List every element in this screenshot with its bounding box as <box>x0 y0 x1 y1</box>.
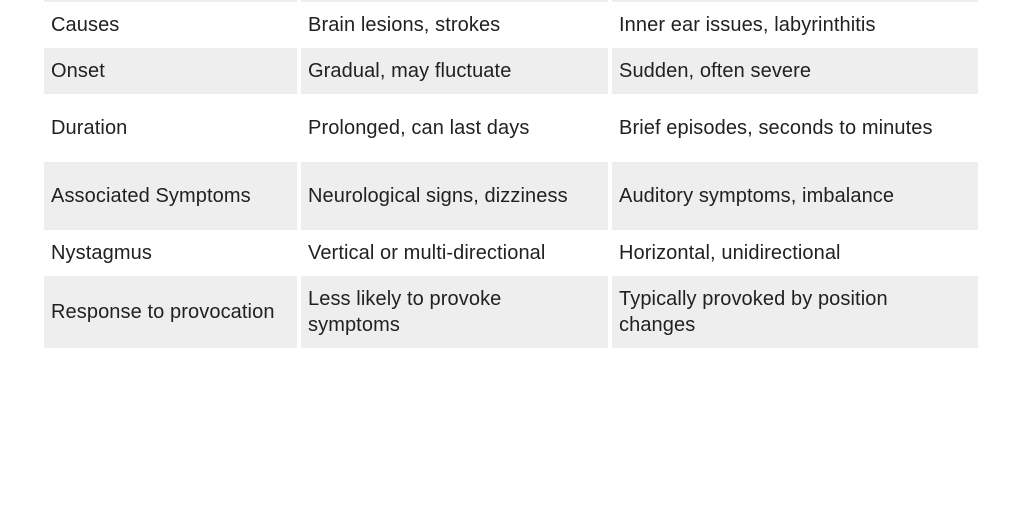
document-page: Causes Brain lesions, strokes Inner ear … <box>0 0 1024 512</box>
cell-feature: Onset <box>44 48 301 94</box>
cell-feature: Causes <box>44 2 301 48</box>
comparison-table: Causes Brain lesions, strokes Inner ear … <box>44 2 978 348</box>
table-row: Onset Gradual, may fluctuate Sudden, oft… <box>44 48 978 94</box>
cell-peripheral: Inner ear issues, labyrinthitis <box>612 2 978 48</box>
cell-peripheral: Horizontal, unidirectional <box>612 230 978 276</box>
table-row: Duration Prolonged, can last days Brief … <box>44 94 978 162</box>
cell-feature: Duration <box>44 94 301 162</box>
table-row: Causes Brain lesions, strokes Inner ear … <box>44 2 978 48</box>
cell-central: Neurological signs, dizziness <box>301 162 612 230</box>
cell-feature: Response to provocation <box>44 276 301 348</box>
cell-peripheral: Auditory symptoms, imbalance <box>612 162 978 230</box>
cell-peripheral: Sudden, often severe <box>612 48 978 94</box>
table-row: Nystagmus Vertical or multi-directional … <box>44 230 978 276</box>
cell-peripheral: Typically provoked by position changes <box>612 276 978 348</box>
cell-central: Less likely to provoke symptoms <box>301 276 612 348</box>
table-row: Response to provocation Less likely to p… <box>44 276 978 348</box>
table-body: Causes Brain lesions, strokes Inner ear … <box>44 2 978 348</box>
cell-feature: Nystagmus <box>44 230 301 276</box>
cell-central: Gradual, may fluctuate <box>301 48 612 94</box>
cell-central: Vertical or multi-directional <box>301 230 612 276</box>
table-row: Associated Symptoms Neurological signs, … <box>44 162 978 230</box>
cell-central: Brain lesions, strokes <box>301 2 612 48</box>
cell-central: Prolonged, can last days <box>301 94 612 162</box>
cell-peripheral: Brief episodes, seconds to minutes <box>612 94 978 162</box>
cell-feature: Associated Symptoms <box>44 162 301 230</box>
